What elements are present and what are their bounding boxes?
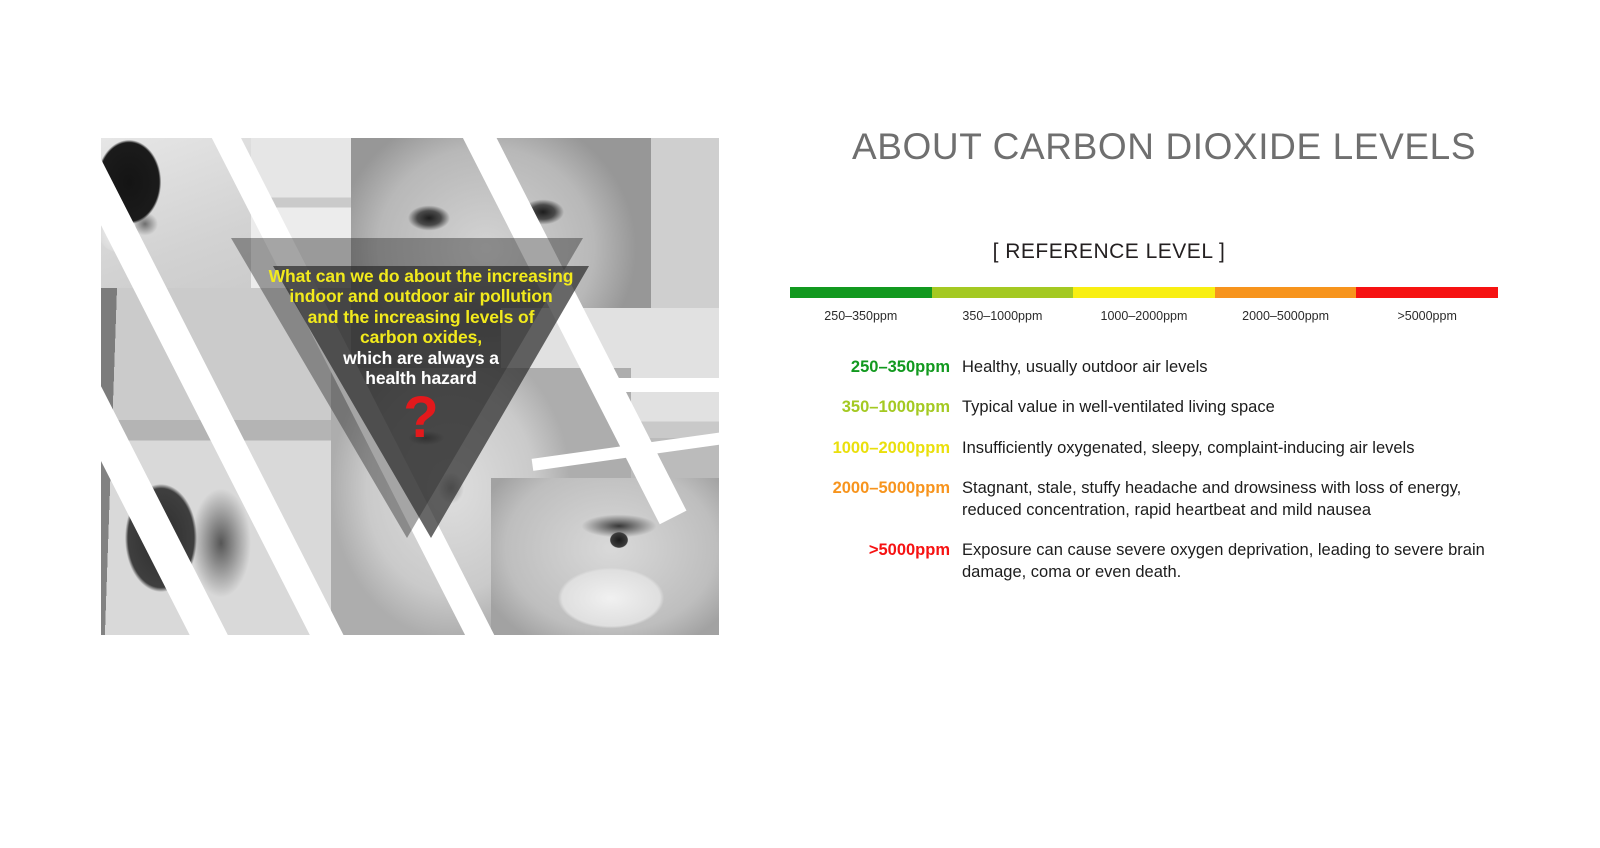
hero-overlay-line-2: indoor and outdoor air pollution (261, 286, 581, 306)
scale-segment-label-3: 1000–2000ppm (1073, 309, 1215, 323)
reference-level-heading: [ REFERENCE LEVEL ] (790, 240, 1510, 264)
collage-divider (601, 378, 719, 392)
co2-scale-bar (790, 287, 1498, 298)
reference-level-range-2: 350–1000ppm (790, 397, 962, 418)
reference-level-range-5: >5000ppm (790, 540, 962, 561)
reference-level-row: 2000–5000ppmStagnant, stale, stuffy head… (790, 478, 1510, 521)
reference-level-list: 250–350ppmHealthy, usually outdoor air l… (790, 357, 1510, 583)
reference-level-description-3: Insufficiently oxygenated, sleepy, compl… (962, 438, 1507, 459)
hero-overlay-text: What can we do about the increasing indo… (261, 266, 581, 444)
hero-overlay-line-5: which are always a (261, 348, 581, 368)
reference-level-description-1: Healthy, usually outdoor air levels (962, 357, 1507, 378)
reference-level-description-5: Exposure can cause severe oxygen depriva… (962, 540, 1507, 583)
hero-overlay-line-4: carbon oxides, (261, 327, 581, 347)
hero-photo-collage: What can we do about the increasing indo… (101, 138, 719, 635)
page-title: ABOUT CARBON DIOXIDE LEVELS (852, 126, 1510, 168)
reference-level-description-4: Stagnant, stale, stuffy headache and dro… (962, 478, 1507, 521)
scale-segment-label-2: 350–1000ppm (932, 309, 1074, 323)
reference-level-row: 1000–2000ppmInsufficiently oxygenated, s… (790, 438, 1510, 459)
scale-segment-2 (932, 287, 1074, 298)
scale-segment-label-5: >5000ppm (1356, 309, 1498, 323)
scale-segment-label-4: 2000–5000ppm (1215, 309, 1357, 323)
reference-level-description-2: Typical value in well-ventilated living … (962, 397, 1507, 418)
reference-level-row: 350–1000ppmTypical value in well-ventila… (790, 397, 1510, 418)
reference-level-range-3: 1000–2000ppm (790, 438, 962, 459)
scale-segment-3 (1073, 287, 1215, 298)
scale-segment-4 (1215, 287, 1357, 298)
slide-root: What can we do about the increasing indo… (0, 0, 1600, 848)
reference-level-row: >5000ppmExposure can cause severe oxygen… (790, 540, 1510, 583)
scale-segment-5 (1356, 287, 1498, 298)
reference-level-range-1: 250–350ppm (790, 357, 962, 378)
reference-level-row: 250–350ppmHealthy, usually outdoor air l… (790, 357, 1510, 378)
reference-level-range-4: 2000–5000ppm (790, 478, 962, 499)
scale-segment-label-1: 250–350ppm (790, 309, 932, 323)
question-mark-icon: ? (261, 391, 581, 444)
co2-scale-labels: 250–350ppm350–1000ppm1000–2000ppm2000–50… (790, 309, 1498, 323)
hero-overlay-line-3: and the increasing levels of (261, 307, 581, 327)
hero-overlay-line-1: What can we do about the increasing (261, 266, 581, 286)
reference-panel: ABOUT CARBON DIOXIDE LEVELS [ REFERENCE … (790, 126, 1510, 602)
scale-segment-1 (790, 287, 932, 298)
